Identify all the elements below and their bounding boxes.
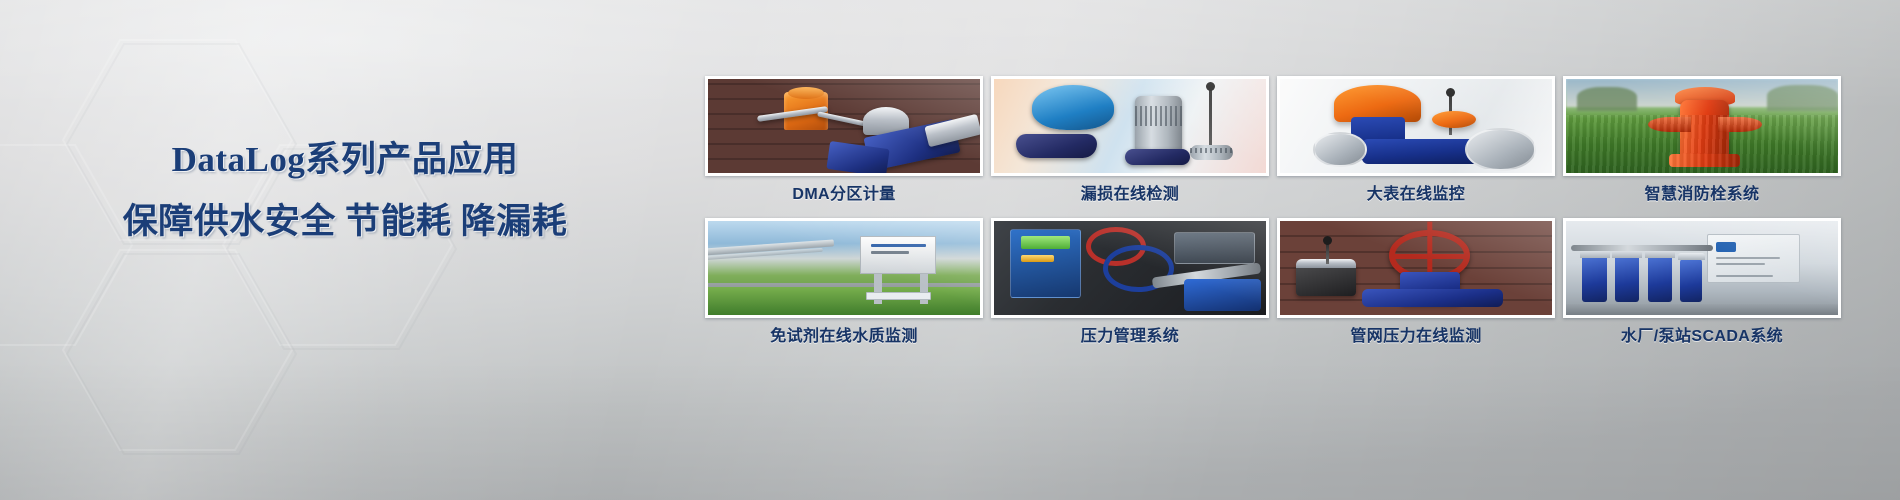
product-card-large-meter[interactable]: 大表在线监控 xyxy=(1277,76,1555,206)
product-thumbnail[interactable] xyxy=(1277,218,1555,318)
product-card-pressure-management[interactable]: 压力管理系统 xyxy=(991,218,1269,348)
headline-line-2: 保障供水安全 节能耗 降漏耗 xyxy=(0,200,690,244)
product-card-water-quality[interactable]: 免试剂在线水质监测 xyxy=(705,218,983,348)
product-caption: 智慧消防栓系统 xyxy=(1563,184,1841,206)
photo-large-meter xyxy=(1280,79,1552,173)
product-card-leak-detection[interactable]: 漏损在线检测 xyxy=(991,76,1269,206)
product-card-scada[interactable]: 水厂/泵站SCADA系统 xyxy=(1563,218,1841,348)
product-thumbnail[interactable] xyxy=(991,76,1269,176)
product-card-pipeline-pressure[interactable]: 管网压力在线监测 xyxy=(1277,218,1555,348)
photo-smart-hydrant xyxy=(1566,79,1838,173)
product-caption: 漏损在线检测 xyxy=(991,184,1269,206)
product-caption: 大表在线监控 xyxy=(1277,184,1555,206)
product-application-banner: DataLog系列产品应用 保障供水安全 节能耗 降漏耗 xyxy=(0,0,1900,500)
product-thumbnail[interactable] xyxy=(705,218,983,318)
product-caption: 压力管理系统 xyxy=(991,326,1269,348)
photo-scada-pump-station xyxy=(1566,221,1838,315)
product-thumbnail[interactable] xyxy=(705,76,983,176)
photo-roadside-water-quality xyxy=(708,221,980,315)
photo-leak-loggers-studio xyxy=(994,79,1266,173)
product-grid: DMA分区计量 漏损在线检测 xyxy=(705,76,1841,348)
product-thumbnail[interactable] xyxy=(1563,218,1841,318)
headline-line-1: DataLog系列产品应用 xyxy=(0,138,690,182)
product-thumbnail[interactable] xyxy=(1277,76,1555,176)
product-caption: 免试剂在线水质监测 xyxy=(705,326,983,348)
photo-pipeline-pressure-valve xyxy=(1280,221,1552,315)
product-thumbnail[interactable] xyxy=(991,218,1269,318)
product-caption: 水厂/泵站SCADA系统 xyxy=(1563,326,1841,348)
product-caption: DMA分区计量 xyxy=(705,184,983,206)
photo-pressure-management-cabinet xyxy=(994,221,1266,315)
product-card-smart-hydrant[interactable]: 智慧消防栓系统 xyxy=(1563,76,1841,206)
product-thumbnail[interactable] xyxy=(1563,76,1841,176)
product-caption: 管网压力在线监测 xyxy=(1277,326,1555,348)
photo-dma-chamber-on-brick xyxy=(708,79,980,173)
product-card-dma[interactable]: DMA分区计量 xyxy=(705,76,983,206)
headline-block: DataLog系列产品应用 保障供水安全 节能耗 降漏耗 xyxy=(0,138,690,244)
